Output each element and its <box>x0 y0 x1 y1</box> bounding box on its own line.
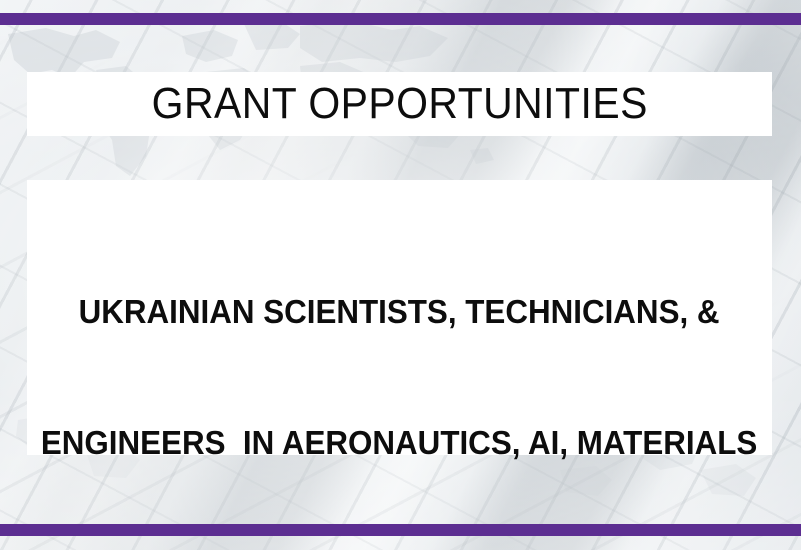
body-panel: UKRAINIAN SCIENTISTS, TECHNICIANS, & ENG… <box>27 180 772 455</box>
top-accent-bar <box>0 13 801 25</box>
bottom-accent-bar <box>0 524 801 536</box>
poster-canvas: GRANT OPPORTUNITIES UKRAINIAN SCIENTISTS… <box>0 0 801 550</box>
title-panel: GRANT OPPORTUNITIES <box>27 72 772 136</box>
eligibility-statement: UKRAINIAN SCIENTISTS, TECHNICIANS, & ENG… <box>41 202 757 550</box>
eligibility-line-2: ENGINEERS IN AERONAUTICS, AI, MATERIALS <box>41 421 757 465</box>
page-title: GRANT OPPORTUNITIES <box>151 82 647 126</box>
eligibility-line-1: UKRAINIAN SCIENTISTS, TECHNICIANS, & <box>41 290 757 334</box>
